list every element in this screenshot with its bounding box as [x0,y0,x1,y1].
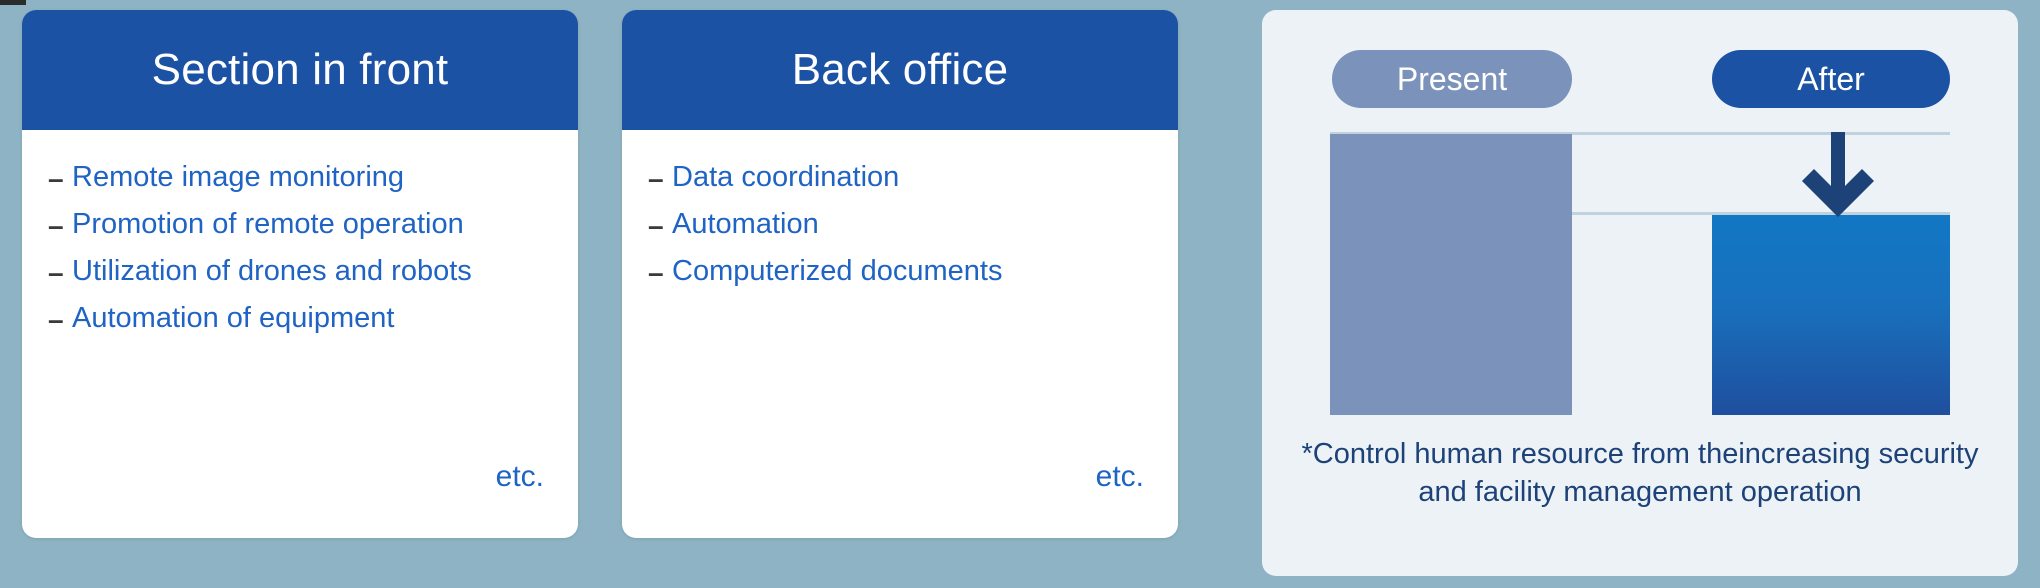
panel-resource-comparison: Present After *Control human resource fr… [1262,10,2018,576]
bar-after [1712,215,1950,415]
dash-bullet-icon: – [48,252,72,293]
card-front-etc-label: etc. [496,462,544,492]
card-front-body: – Remote image monitoring – Promotion of… [22,130,578,538]
panel-caption: *Control human resource from theincreasi… [1284,435,1996,511]
card-section-in-front: Section in front – Remote image monitori… [22,10,578,538]
list-item-label: Utilization of drones and robots [72,252,472,290]
list-item-label: Remote image monitoring [72,158,404,196]
slide-canvas: Section in front – Remote image monitori… [0,0,2040,588]
legend-pill-present-label: Present [1397,63,1507,95]
list-item: – Data coordination [648,158,1152,199]
list-item-label: Automation of equipment [72,299,394,337]
legend-pill-after-label: After [1797,63,1865,95]
card-back-body: – Data coordination – Automation – Compu… [622,130,1178,538]
list-item: – Computerized documents [648,252,1152,293]
list-item-label: Promotion of remote operation [72,205,464,243]
list-item-label: Computerized documents [672,252,1002,290]
dash-bullet-icon: – [648,252,672,293]
dash-bullet-icon: – [648,205,672,246]
bar-present [1330,134,1572,415]
card-back-etc-label: etc. [1096,462,1144,492]
card-front-bullet-list: – Remote image monitoring – Promotion of… [48,158,552,340]
legend-pill-present: Present [1332,50,1572,108]
list-item-label: Data coordination [672,158,899,196]
card-front-header: Section in front [22,10,578,130]
dash-bullet-icon: – [48,158,72,199]
legend-pill-after: After [1712,50,1950,108]
list-item: – Utilization of drones and robots [48,252,552,293]
dash-bullet-icon: – [48,299,72,340]
list-item: – Automation of equipment [48,299,552,340]
card-back-header: Back office [622,10,1178,130]
down-arrow-icon [1798,132,1878,217]
list-item-label: Automation [672,205,819,243]
card-back-title: Back office [792,48,1009,92]
card-front-title: Section in front [152,48,449,92]
list-item: – Automation [648,205,1152,246]
card-back-office: Back office – Data coordination – Automa… [622,10,1178,538]
dash-bullet-icon: – [648,158,672,199]
list-item: – Remote image monitoring [48,158,552,199]
dash-bullet-icon: – [48,205,72,246]
card-back-bullet-list: – Data coordination – Automation – Compu… [648,158,1152,293]
list-item: – Promotion of remote operation [48,205,552,246]
